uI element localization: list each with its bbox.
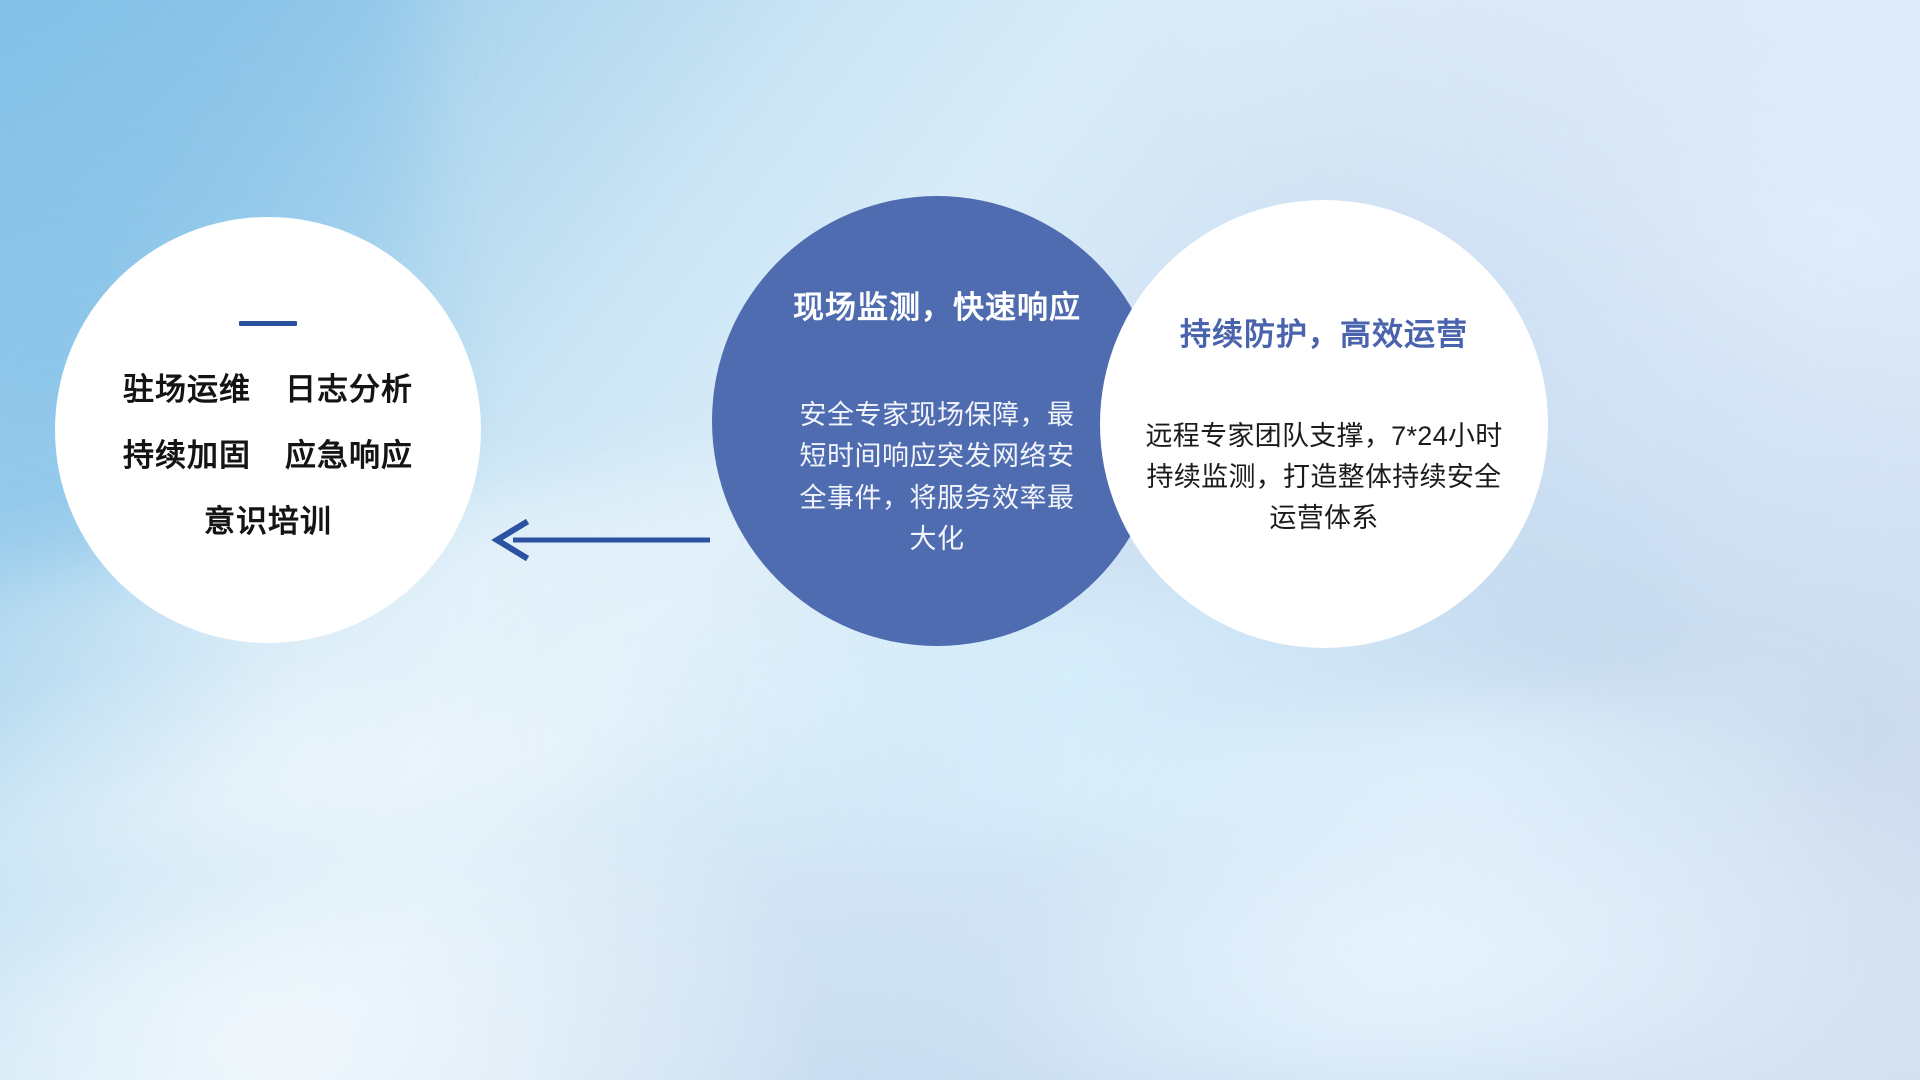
background-light-streak-lower-right (1051, 680, 1829, 1079)
divider-line (239, 321, 297, 326)
slide-canvas: 驻场运维 日志分析 持续加固 应急响应 意识培训 现场监测，快速响应 安全专家现… (0, 0, 1920, 1080)
keyword-row-1: 驻场运维 日志分析 (123, 373, 413, 407)
keyword-item: 日志分析 (285, 373, 413, 407)
keyword-item: 意识培训 (204, 505, 332, 539)
keyword-item: 应急响应 (285, 439, 413, 473)
keyword-item: 持续加固 (123, 439, 251, 473)
circle-body-text: 安全专家现场保障，最短时间响应突发网络安全事件，将服务效率最大化 (787, 395, 1087, 559)
flow-arrow-left-icon (487, 516, 712, 564)
capability-circle-left: 驻场运维 日志分析 持续加固 应急响应 意识培训 (55, 217, 481, 643)
keyword-item: 驻场运维 (123, 373, 251, 407)
keyword-row-3: 意识培训 (204, 505, 332, 539)
capability-circle-right: 持续防护，高效运营 远程专家团队支撑，7*24小时持续监测，打造整体持续安全运营… (1100, 200, 1548, 648)
circle-title: 持续防护，高效运营 (1180, 309, 1468, 354)
circle-title: 现场监测，快速响应 (793, 282, 1081, 327)
background-light-streak-lower-center (513, 562, 1627, 878)
keyword-row-2: 持续加固 应急响应 (123, 439, 413, 473)
capability-circle-middle: 现场监测，快速响应 安全专家现场保障，最短时间响应突发网络安全事件，将服务效率最… (712, 196, 1162, 646)
circle-body-text: 远程专家团队支撑，7*24小时持续监测，打造整体持续安全运营体系 (1144, 416, 1504, 539)
